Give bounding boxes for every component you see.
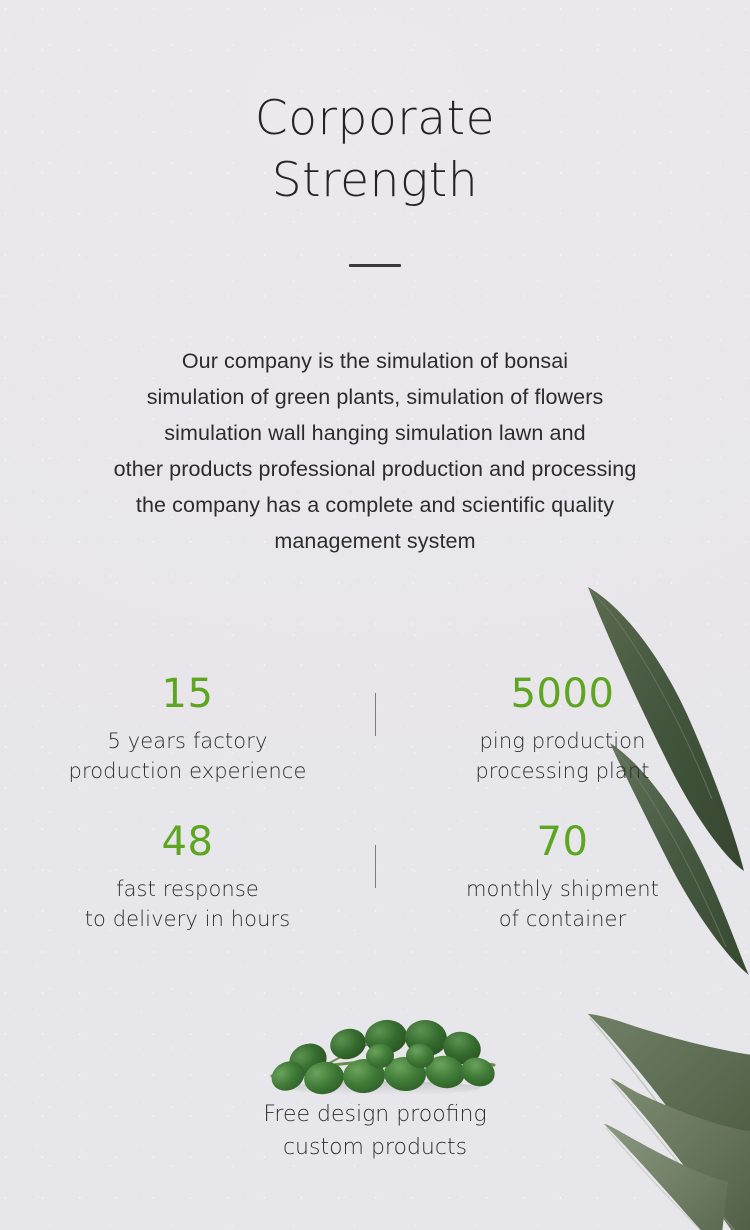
stat-label: ping production processing plant	[385, 726, 740, 786]
stat-label: 5 years factory production experience	[10, 726, 365, 786]
footer-caption: Free design proofing custom products	[0, 1098, 750, 1164]
stat-value: 5000	[385, 668, 740, 720]
title-divider-rule	[349, 264, 401, 267]
stat-item-monthly-shipment: 70 monthly shipment of container	[375, 808, 750, 956]
stat-item-response-time: 48 fast response to delivery in hours	[0, 808, 375, 956]
stat-label: fast response to delivery in hours	[10, 874, 365, 934]
intro-paragraph: Our company is the simulation of bonsai …	[0, 343, 750, 559]
stat-item-years-experience: 15 5 years factory production experience	[0, 660, 375, 808]
stat-label: monthly shipment of container	[385, 874, 740, 934]
promo-page: Corporate Strength Our company is the si…	[0, 0, 750, 1230]
stat-item-plant-size: 5000 ping production processing plant	[375, 660, 750, 808]
eucalyptus-sprig-icon	[262, 1004, 502, 1096]
stat-value: 48	[10, 816, 365, 868]
page-title: Corporate Strength	[0, 88, 750, 212]
stat-value: 15	[10, 668, 365, 720]
stat-value: 70	[385, 816, 740, 868]
page-header: Corporate Strength	[0, 88, 750, 267]
stats-grid: 15 5 years factory production experience…	[0, 660, 750, 956]
